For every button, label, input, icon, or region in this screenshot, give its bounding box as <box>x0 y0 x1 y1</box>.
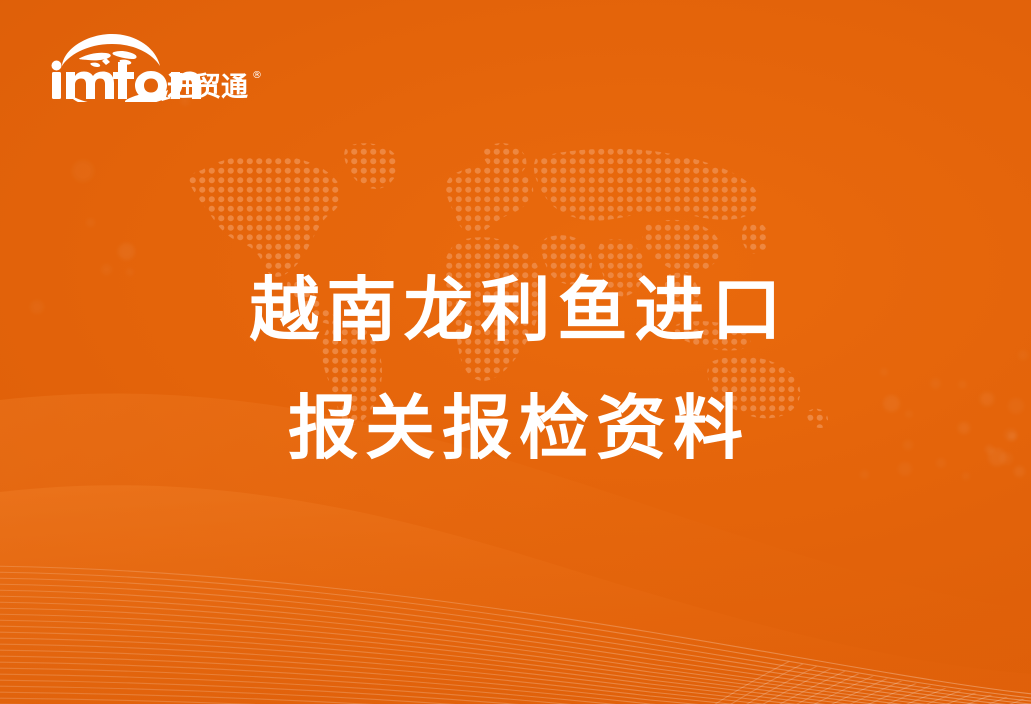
logo-chinese-name: 进贸通 <box>167 74 248 101</box>
title-line-2: 报关报检资料 <box>0 376 1031 480</box>
brand-logo[interactable]: 进贸通 ® <box>44 28 234 102</box>
registered-trademark-icon: ® <box>252 70 262 81</box>
poster-canvas: 进贸通 ® 越南龙利鱼进口 报关报检资料 <box>0 0 1031 704</box>
fine-line-hatch <box>0 504 1031 704</box>
title-line-1: 越南龙利鱼进口 <box>0 258 1031 362</box>
page-title: 越南龙利鱼进口 报关报检资料 <box>0 258 1031 480</box>
